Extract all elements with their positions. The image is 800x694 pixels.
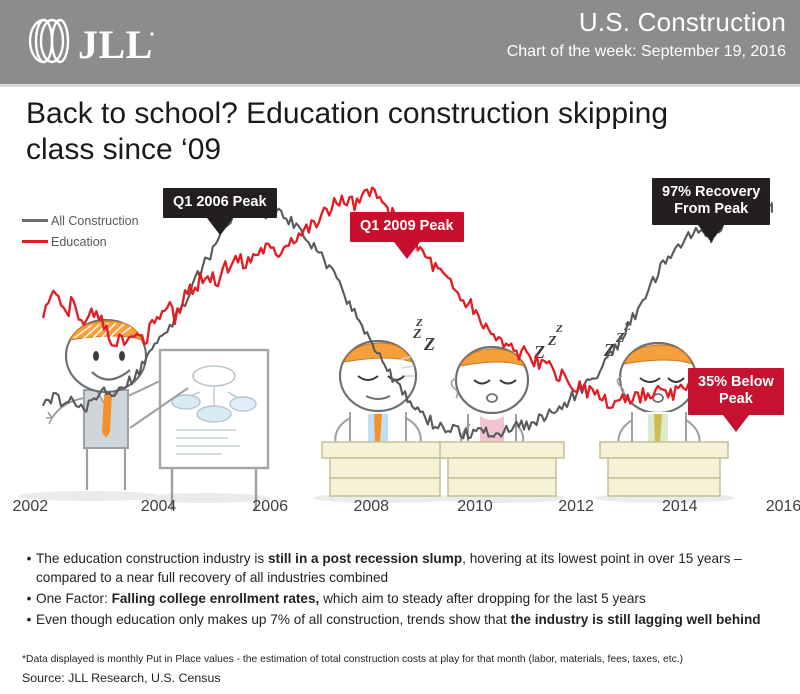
callout-35-percent-below-peak-label: 35% Below Peak xyxy=(688,368,784,415)
x-axis-tick-2010: 2010 xyxy=(457,498,493,516)
callout-q1-2006-peak: Q1 2006 Peak xyxy=(163,188,277,235)
x-axis-tick-2004: 2004 xyxy=(141,498,177,516)
chart-canvas: Z Z Z Z Z Z xyxy=(0,180,800,540)
callout-35-percent-below-peak: 35% Below Peak xyxy=(688,368,784,432)
callout-97-percent-recovery-label: 97% Recovery From Peak xyxy=(652,178,770,225)
page-header: JLL U.S. Construction Chart of the week:… xyxy=(0,0,800,84)
callout-tail xyxy=(698,225,724,242)
legend-label-all-construction: All Construction xyxy=(51,214,139,228)
bullet-marker: • xyxy=(22,589,36,608)
x-axis-tick-2008: 2008 xyxy=(353,498,389,516)
insight-item: •One Factor: Falling college enrollment … xyxy=(22,589,786,608)
x-axis-tick-2002: 2002 xyxy=(13,498,49,516)
x-axis-tick-2012: 2012 xyxy=(558,498,594,516)
legend-swatch-education xyxy=(22,240,48,243)
x-axis: 20022004200620082010201220142016 xyxy=(0,498,800,524)
callout-tail xyxy=(394,242,420,259)
x-axis-tick-2006: 2006 xyxy=(252,498,288,516)
svg-text:Z: Z xyxy=(415,317,423,329)
jll-logo: JLL xyxy=(28,14,160,70)
svg-text:Z: Z xyxy=(412,327,422,342)
chart-headline: Back to school? Education construction s… xyxy=(26,96,726,168)
callout-97-percent-recovery: 97% Recovery From Peak xyxy=(652,178,770,242)
insight-text: One Factor: Falling college enrollment r… xyxy=(36,589,646,608)
cartoon-student-2: Z Z Z xyxy=(440,323,564,496)
footnote-text: *Data displayed is monthly Put in Place … xyxy=(22,652,792,667)
callout-tail xyxy=(723,415,749,432)
svg-text:Z: Z xyxy=(547,334,557,349)
cartoon-flipchart xyxy=(130,350,268,510)
x-axis-tick-2014: 2014 xyxy=(662,498,698,516)
legend-label-education: Education xyxy=(51,235,107,249)
header-subtitle: Chart of the week: September 19, 2016 xyxy=(507,41,786,63)
callout-tail xyxy=(207,218,233,235)
svg-text:Z: Z xyxy=(555,323,563,335)
page-title: U.S. Construction xyxy=(507,6,786,38)
header-titles: U.S. Construction Chart of the week: Sep… xyxy=(507,6,786,63)
insight-item: •The education construction industry is … xyxy=(22,549,786,587)
legend-swatch-all-construction xyxy=(22,219,48,222)
legend-item-all-construction: All Construction xyxy=(22,210,139,231)
insights-list: •The education construction industry is … xyxy=(22,549,786,631)
insight-text: The education construction industry is s… xyxy=(36,549,786,587)
chart-legend: All Construction Education xyxy=(22,210,139,252)
bullet-marker: • xyxy=(22,549,36,587)
svg-text:Z: Z xyxy=(423,334,435,354)
callout-q1-2009-peak: Q1 2009 Peak xyxy=(350,212,464,259)
x-axis-tick-2016: 2016 xyxy=(766,498,800,516)
svg-text:JLL: JLL xyxy=(78,22,153,67)
insight-item: •Even though education only makes up 7% … xyxy=(22,610,786,629)
bullet-marker: • xyxy=(22,610,36,629)
cartoon-student-1: Z Z Z xyxy=(322,317,448,496)
source-text: Source: JLL Research, U.S. Census xyxy=(22,669,792,688)
header-divider xyxy=(0,84,800,87)
legend-item-education: Education xyxy=(22,231,139,252)
callout-q1-2009-peak-label: Q1 2009 Peak xyxy=(350,212,464,242)
footnotes: *Data displayed is monthly Put in Place … xyxy=(22,652,792,688)
insight-text: Even though education only makes up 7% o… xyxy=(36,610,761,629)
callout-q1-2006-peak-label: Q1 2006 Peak xyxy=(163,188,277,218)
